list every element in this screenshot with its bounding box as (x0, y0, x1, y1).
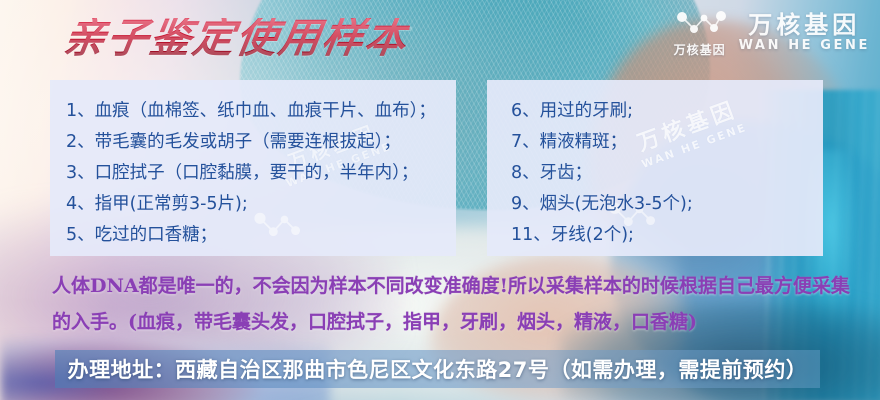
address-text: 办理地址：西藏自治区那曲市色尼区文化东路27号（如需办理，需提前预约） (68, 354, 808, 384)
logo-mark: 万核基因 (673, 8, 727, 58)
logo-name-en: WAN HE GENE (739, 39, 870, 53)
list-item: 9、烟头(无泡水3-5个); (511, 189, 823, 220)
paragraph-line-2: 的入手。(血痕，带毛囊头发，口腔拭子，指甲，牙刷，烟头，精液，口香糖) (52, 304, 842, 340)
page-title: 亲子鉴定使用样本 (61, 18, 411, 59)
logo-wordmark: 万核基因 WAN HE GENE (739, 13, 870, 53)
sample-list-panel-right: 万核基因 WAN HE GENE 6、用过的牙刷; 7、精液精斑； 8、牙齿； … (487, 80, 823, 256)
brand-logo: 万核基因 万核基因 WAN HE GENE (673, 8, 870, 58)
poster-canvas: 亲子鉴定使用样本 万核基因 万核基因 WAN HE GENE 万核基因 (0, 0, 880, 400)
list-item: 11、牙线(2个); (511, 220, 823, 251)
list-item: 6、用过的牙刷; (511, 96, 823, 127)
logo-mark-label: 万核基因 (674, 41, 726, 58)
list-item: 3、口腔拭子（口腔黏膜，要干的，半年内）； (66, 158, 456, 189)
paragraph-line-1: 人体DNA都是唯一的，不会因为样本不同改变准确度!所以采集样本的时候根据自己最方… (52, 268, 842, 304)
list-item: 1、血痕（血棉签、纸巾血、血痕干片、血布）； (66, 96, 456, 127)
address-bar: 办理地址：西藏自治区那曲市色尼区文化东路27号（如需办理，需提前预约） (55, 350, 820, 388)
description-paragraph: 人体DNA都是唯一的，不会因为样本不同改变准确度!所以采集样本的时候根据自己最方… (52, 268, 842, 340)
sample-list-left: 1、血痕（血棉签、纸巾血、血痕干片、血布）； 2、带毛囊的毛发或胡子（需要连根拔… (50, 80, 456, 251)
list-item: 2、带毛囊的毛发或胡子（需要连根拔起）； (66, 127, 456, 158)
list-item: 8、牙齿； (511, 158, 823, 189)
list-item: 7、精液精斑； (511, 127, 823, 158)
sample-list-panel-left: 万核基因 WAN HE GENE 1、血痕（血棉签、纸巾血、血痕干片、血布）； … (50, 80, 456, 256)
list-item: 5、吃过的口香糖； (66, 220, 456, 251)
logo-name-cn: 万核基因 (748, 13, 860, 39)
list-item: 4、指甲(正常剪3-5片); (66, 189, 456, 220)
sample-list-right: 6、用过的牙刷; 7、精液精斑； 8、牙齿； 9、烟头(无泡水3-5个); 11… (487, 80, 823, 251)
molecule-icon (673, 8, 727, 38)
